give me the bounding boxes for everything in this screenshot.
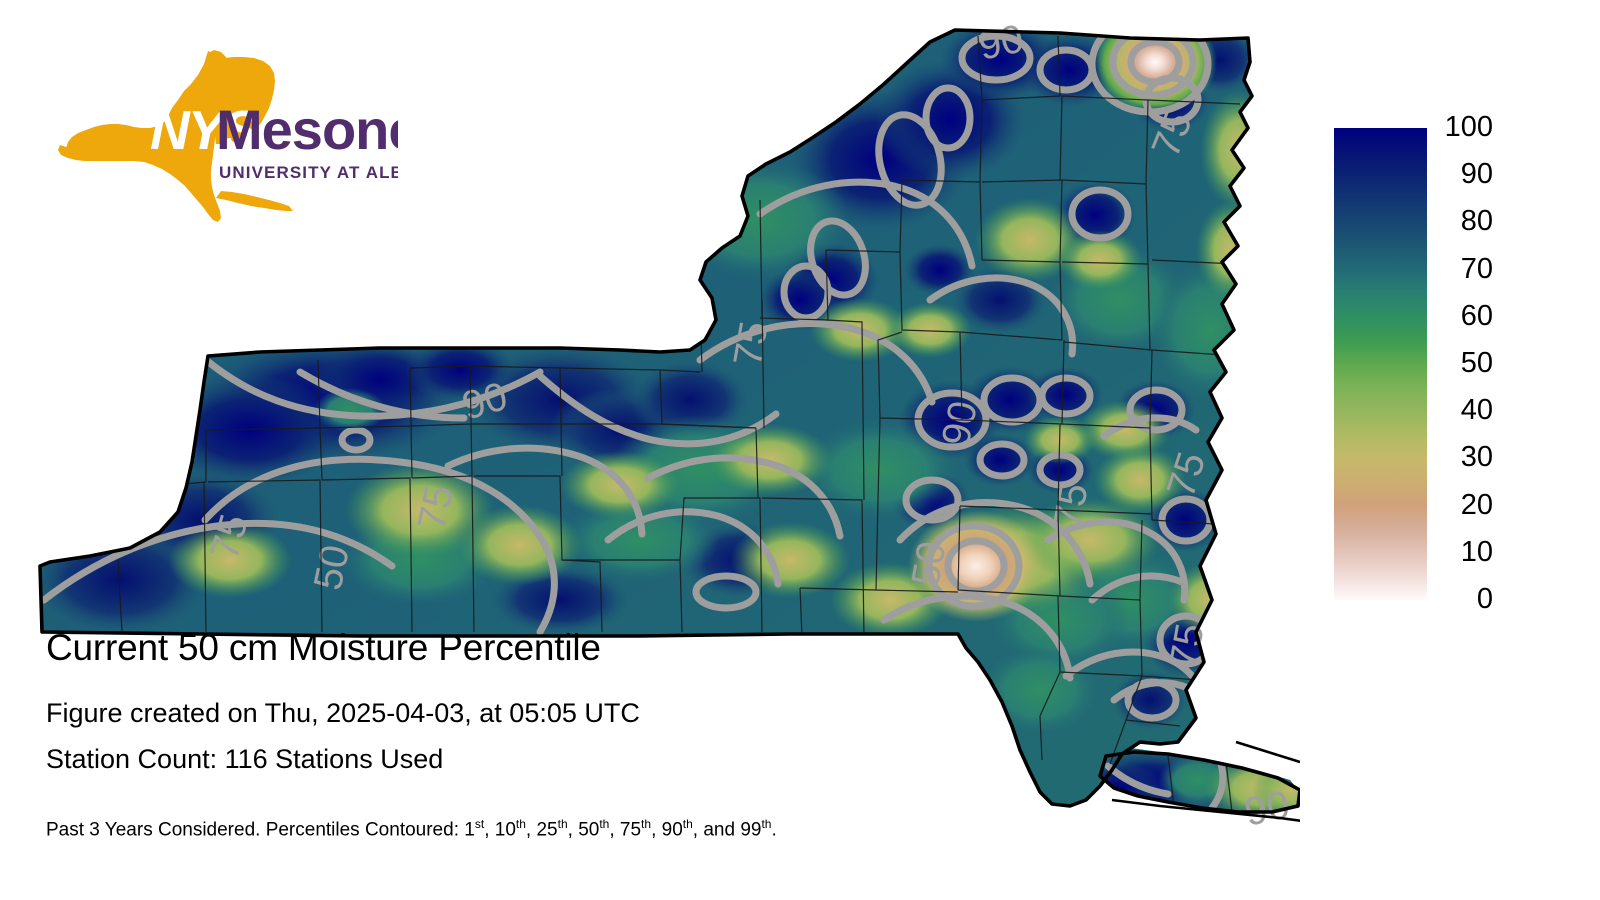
colorbar-tick: 80 (1461, 207, 1493, 236)
colorbar-gradient (1334, 128, 1427, 600)
colorbar: 100 90 80 70 60 50 40 30 20 10 0 (1334, 128, 1494, 600)
colorbar-tick-labels: 100 90 80 70 60 50 40 30 20 10 0 (1433, 128, 1493, 600)
figure-footnote: Past 3 Years Considered. Percentiles Con… (46, 812, 1046, 842)
colorbar-tick: 50 (1461, 349, 1493, 378)
colorbar-tick: 20 (1461, 491, 1493, 520)
colorbar-tick: 100 (1445, 113, 1493, 142)
figure-caption-block: Current 50 cm Moisture Percentile Figure… (46, 626, 1046, 842)
colorbar-tick: 10 (1461, 538, 1493, 567)
figure-station-count: Station Count: 116 Stations Used (46, 743, 1046, 776)
contour-label-50-catskill: 50 (904, 538, 955, 589)
contour-label-50-west: 50 (306, 541, 358, 594)
contour-label-90-top: 90 (975, 17, 1028, 69)
contour-label-75-central: 75 (410, 481, 462, 534)
figure-created-timestamp: Figure created on Thu, 2025-04-03, at 05… (46, 697, 1046, 730)
colorbar-tick: 0 (1477, 585, 1493, 614)
contour-label-90-adk: 90 (934, 397, 986, 450)
colorbar-tick: 70 (1461, 255, 1493, 284)
colorbar-tick: 30 (1461, 443, 1493, 472)
contour-label-75-hudson: 75 (1046, 480, 1097, 531)
figure-title: Current 50 cm Moisture Percentile (46, 626, 1046, 670)
colorbar-tick: 90 (1461, 160, 1493, 189)
contour-label-75-north: 75 (726, 318, 777, 369)
colorbar-tick: 40 (1461, 396, 1493, 425)
colorbar-tick: 60 (1461, 302, 1493, 331)
